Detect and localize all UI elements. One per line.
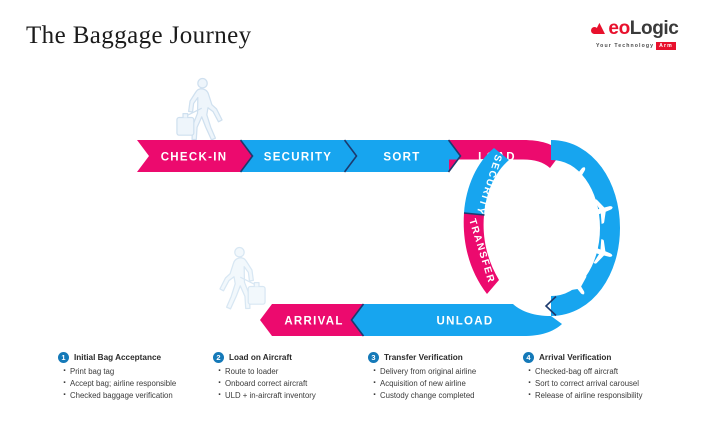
legend: 1 Initial Bag Acceptance Print bag tag A… [58,352,678,422]
check-in-label: CHECK-IN [161,152,228,164]
legend-title-2: Load on Aircraft [229,353,292,362]
legend-badge-2: 2 [213,352,224,363]
logo-name-secondary: Logic [630,18,679,39]
legend-item: Custody change completed [368,390,523,402]
legend-item: Delivery from original airline [368,366,523,378]
traveler-icon [177,79,222,140]
legend-item: Route to loader [213,366,368,378]
flow-step-load[interactable]: LOAD [449,140,563,172]
legend-item: Acquisition of new airline [368,378,523,390]
logo-wordmark: ▲eoLogic [590,18,702,40]
legend-header-2: 2 Load on Aircraft [213,352,368,363]
logo-tagline-text: Your Technology [596,43,654,49]
flow-step-transfer[interactable]: TRANSFER [464,213,499,294]
legend-item: Checked-bag off aircraft [523,366,678,378]
baggage-flow-diagram: CHECK-IN SECURITY SORT LOAD [0,60,720,345]
arrival-label: ARRIVAL [284,316,343,328]
logo-name-primary: eo [608,18,629,39]
security-top-label: SECURITY [264,152,333,164]
flow-step-check-in[interactable]: CHECK-IN [137,140,252,172]
legend-item: Sort to correct arrival carousel [523,378,678,390]
legend-column-3: 3 Transfer Verification Delivery from or… [368,352,523,422]
logo-tagline-badge: Arm [656,42,676,50]
legend-item: Onboard correct aircraft [213,378,368,390]
legend-column-1: 1 Initial Bag Acceptance Print bag tag A… [58,352,213,422]
legend-header-3: 3 Transfer Verification [368,352,523,363]
legend-badge-3: 3 [368,352,379,363]
flow-step-sort[interactable]: SORT [345,140,461,172]
traveler-icon [220,248,265,309]
flow-step-arrival[interactable]: ARRIVAL [260,304,364,336]
legend-title-4: Arrival Verification [539,353,611,362]
legend-header-1: 1 Initial Bag Acceptance [58,352,213,363]
flow-step-security-top[interactable]: SECURITY [241,140,357,172]
page-title: The Baggage Journey [26,22,252,50]
legend-column-4: 4 Arrival Verification Checked-bag off a… [523,352,678,422]
sort-label: SORT [383,152,420,164]
legend-header-4: 4 Arrival Verification [523,352,678,363]
eologic-logo: ▲eoLogic Your TechnologyArm [590,18,702,54]
legend-title-1: Initial Bag Acceptance [74,353,161,362]
traveler-silhouette-departure [177,79,222,140]
legend-item: Release of airline responsibility [523,390,678,402]
legend-badge-4: 4 [523,352,534,363]
legend-item: Accept bag; airline responsible [58,378,213,390]
legend-badge-1: 1 [58,352,69,363]
legend-column-2: 2 Load on Aircraft Route to loader Onboa… [213,352,368,422]
traveler-silhouette-arrival [220,248,265,309]
legend-item: Checked baggage verification [58,390,213,402]
legend-item: ULD + in-aircraft inventory [213,390,368,402]
infographic-canvas: The Baggage Journey ▲eoLogic Your Techno… [0,0,720,432]
legend-title-3: Transfer Verification [384,353,463,362]
flow-step-unload[interactable]: UNLOAD [351,289,562,337]
unload-label: UNLOAD [437,316,494,328]
logo-tagline: Your TechnologyArm [596,42,676,50]
legend-item: Print bag tag [58,366,213,378]
logo-letter-a: ▲ [590,18,608,39]
